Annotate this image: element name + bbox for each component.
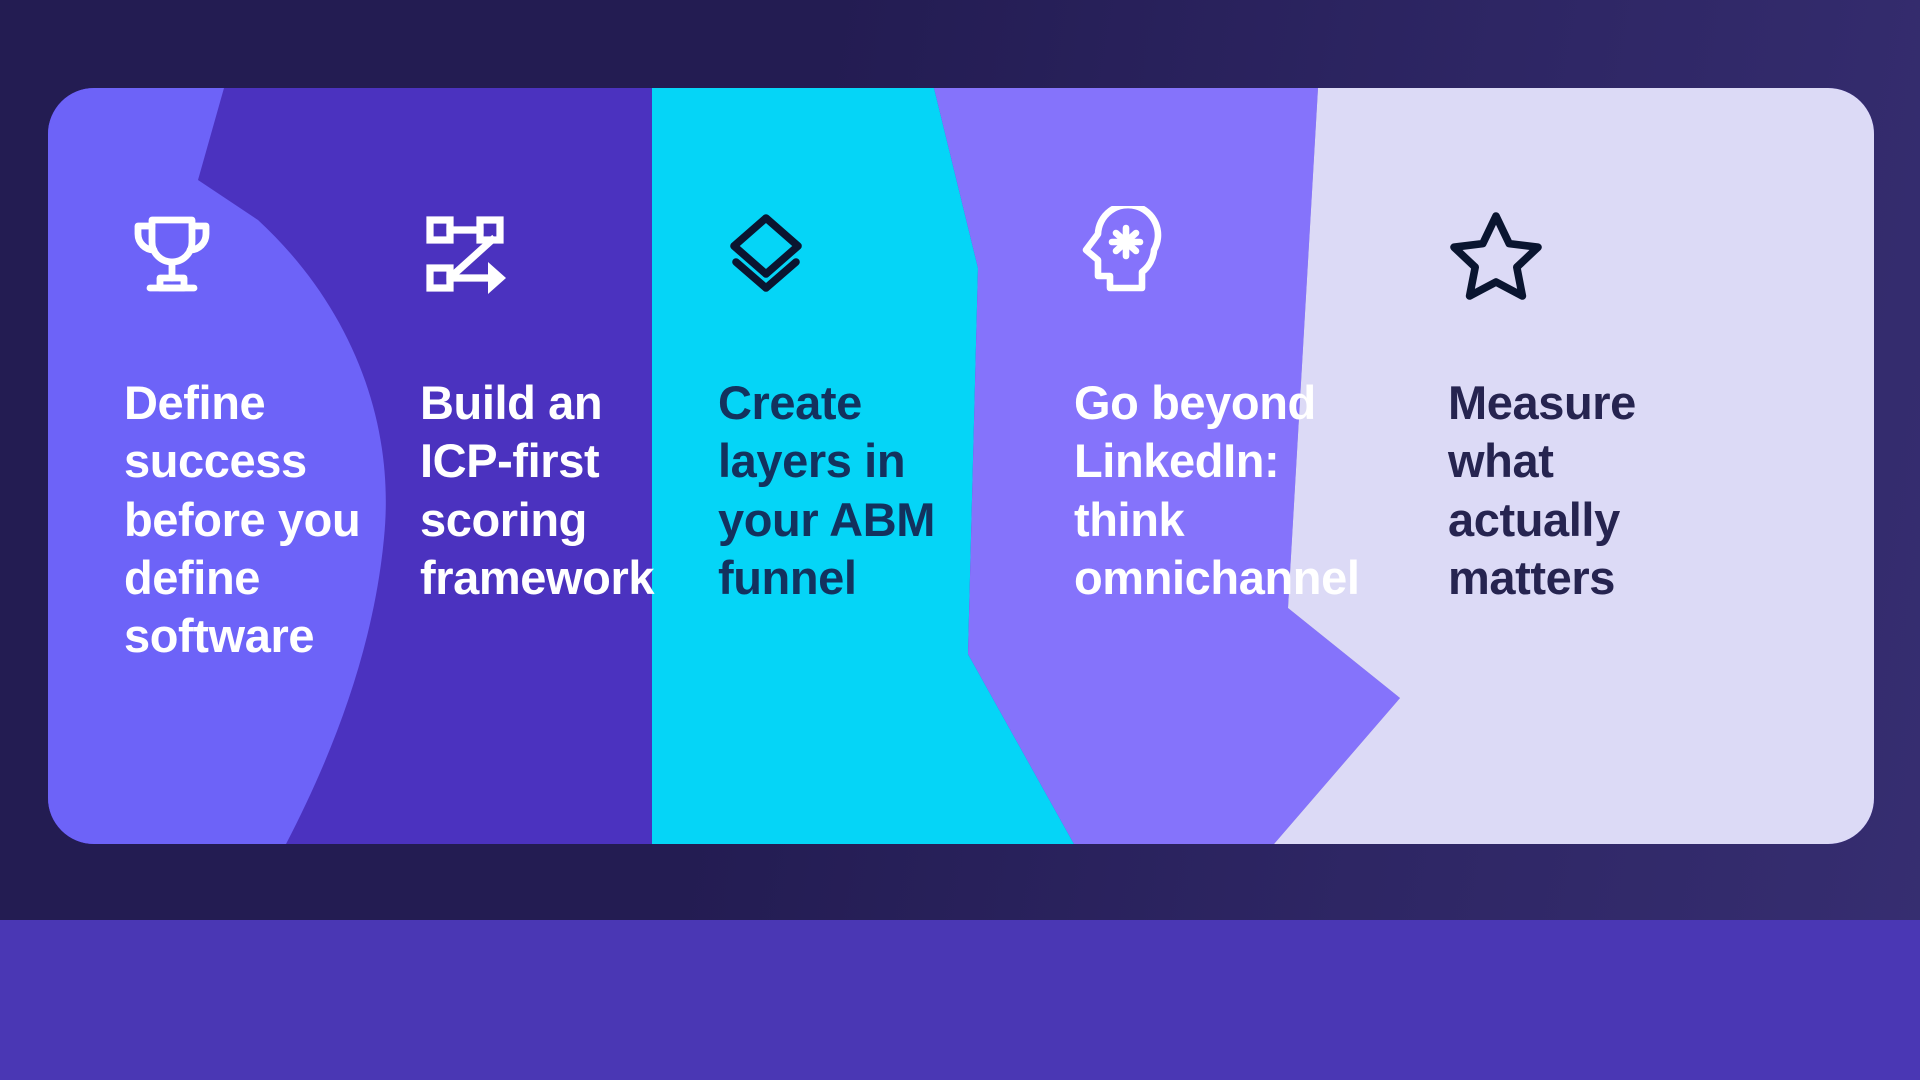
panel-3-label: Create layers in your ABM funnel	[718, 374, 980, 607]
background-lower-band	[0, 920, 1920, 1080]
panel-2-label: Build an ICP-first scoring framework	[420, 374, 712, 607]
layers-icon	[718, 206, 814, 302]
infographic-stage: Define success before you define softwar…	[0, 0, 1920, 1080]
head-spark-icon	[1074, 206, 1170, 302]
panel-4-label: Go beyond LinkedIn: think omnichannel	[1074, 374, 1374, 607]
star-icon	[1448, 206, 1544, 302]
steps-card: Define success before you define softwar…	[48, 88, 1874, 844]
panel-5-label: Measure what actually matters	[1448, 374, 1698, 607]
panel-1-label: Define success before you define softwar…	[124, 374, 404, 665]
workflow-branch-icon	[420, 206, 516, 302]
trophy-icon	[124, 206, 220, 302]
